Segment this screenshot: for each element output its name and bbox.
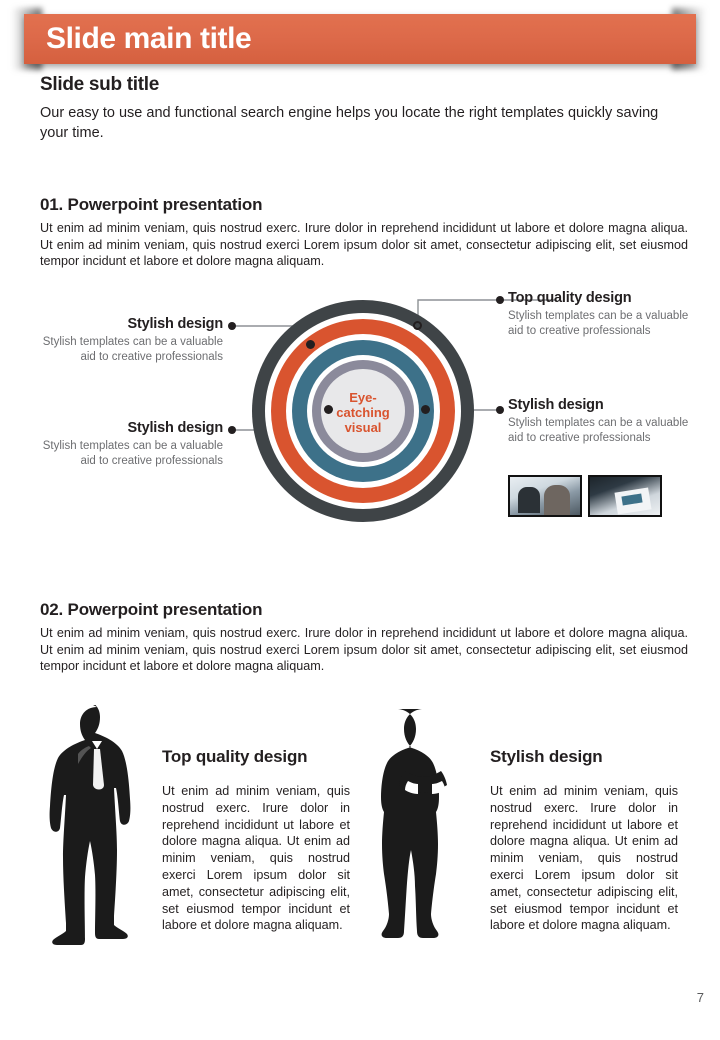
title-banner: Slide main title — [0, 8, 720, 70]
section-02-heading: 02. Powerpoint presentation — [40, 600, 262, 620]
businessman-silhouette — [42, 705, 152, 975]
section-02-body: Ut enim ad minim veniam, quis nostrud ex… — [40, 625, 688, 675]
section-01-heading: 01. Powerpoint presentation — [40, 195, 262, 215]
callout-bottom-left[interactable]: Stylish design Stylish templates can be … — [33, 420, 223, 469]
lead-dot-top-right[interactable] — [496, 296, 504, 304]
thumbnail-strip — [508, 475, 662, 517]
ring-stack: Eye- catching visual — [252, 300, 474, 522]
callout-desc: Stylish templates can be a valuable aid … — [33, 335, 223, 365]
slide-canvas: Slide main title Slide sub title Our eas… — [0, 0, 720, 1040]
lead-dot-top-left[interactable] — [228, 322, 236, 330]
documents-review-photo[interactable] — [588, 475, 662, 517]
ring-dot-orange-topleft[interactable] — [306, 340, 315, 349]
ring-dot-dark-topright[interactable] — [413, 321, 422, 330]
callout-top-left[interactable]: Stylish design Stylish templates can be … — [33, 316, 223, 365]
callout-title: Top quality design — [508, 290, 698, 306]
person-right-title: Stylish design — [490, 747, 602, 767]
person-block-left: Top quality design Ut enim ad minim veni… — [32, 705, 362, 980]
callout-title: Stylish design — [33, 316, 223, 332]
section-01-body: Ut enim ad minim veniam, quis nostrud ex… — [40, 220, 688, 270]
person-right-body: Ut enim ad minim veniam, quis nostrud ex… — [490, 783, 678, 934]
center-label-line1: Eye- — [349, 390, 376, 405]
callout-title: Stylish design — [508, 397, 698, 413]
person-left-body: Ut enim ad minim veniam, quis nostrud ex… — [162, 783, 350, 934]
person-left-title: Top quality design — [162, 747, 307, 767]
callout-desc: Stylish templates can be a valuable aid … — [508, 416, 698, 446]
page-number: 7 — [697, 990, 704, 1005]
banner-bar: Slide main title — [24, 14, 696, 64]
lead-dot-bottom-right[interactable] — [496, 406, 504, 414]
business-meeting-photo[interactable] — [508, 475, 582, 517]
center-label-line2: catching — [336, 405, 389, 420]
ring-dot-purple-left[interactable] — [324, 405, 333, 414]
page-title: Slide main title — [46, 17, 251, 61]
ring-dot-blue-right[interactable] — [421, 405, 430, 414]
slide-sub-title: Slide sub title — [40, 74, 159, 96]
center-label: Eye- catching visual — [321, 372, 405, 452]
lead-dot-bottom-left[interactable] — [228, 426, 236, 434]
center-label-line3: visual — [345, 420, 382, 435]
callout-bottom-right[interactable]: Stylish design Stylish templates can be … — [508, 397, 698, 446]
person-block-right: Stylish design Ut enim ad minim veniam, … — [360, 705, 690, 980]
businesswoman-silhouette — [370, 705, 480, 975]
callout-top-right[interactable]: Top quality design Stylish templates can… — [508, 290, 698, 339]
callout-desc: Stylish templates can be a valuable aid … — [33, 439, 223, 469]
callout-title: Stylish design — [33, 420, 223, 436]
callout-desc: Stylish templates can be a valuable aid … — [508, 309, 698, 339]
slide-intro-text: Our easy to use and functional search en… — [40, 103, 685, 143]
